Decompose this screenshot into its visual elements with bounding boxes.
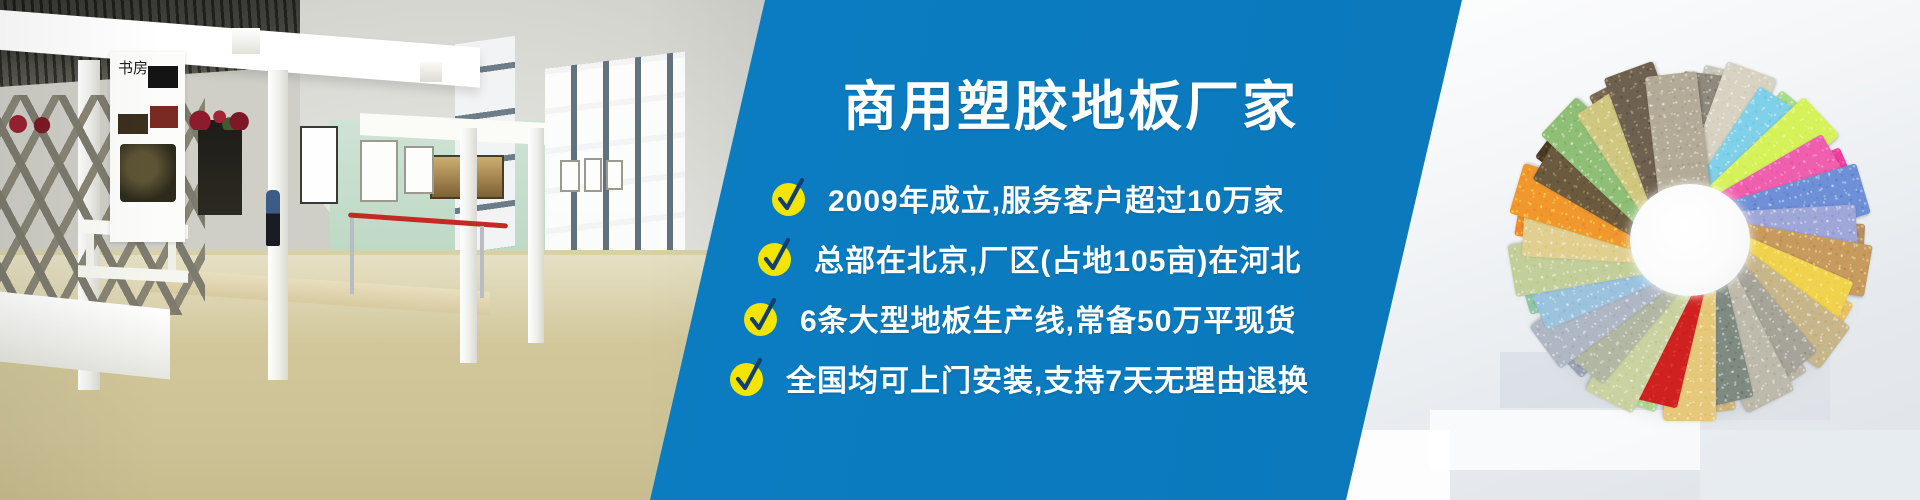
check-mark-icon — [759, 237, 793, 277]
page-title: 商用塑胶地板厂家 — [843, 62, 1299, 141]
check-circle-icon — [758, 241, 792, 275]
feature-item: 全国均可上门安装,支持7天无理由退换 — [730, 348, 1420, 408]
check-circle-icon — [730, 361, 764, 395]
feature-list: 2009年成立,服务客户超过10万家总部在北京,厂区(占地105亩)在河北6条大… — [720, 168, 1420, 408]
feature-text: 全国均可上门安装,支持7天无理由退换 — [786, 356, 1309, 400]
feature-item: 2009年成立,服务客户超过10万家 — [772, 168, 1420, 228]
feature-item: 6条大型地板生产线,常备50万平现货 — [744, 288, 1420, 348]
check-mark-icon — [731, 357, 765, 397]
wheel-hub — [1630, 184, 1750, 296]
check-mark-icon — [773, 177, 807, 217]
check-circle-icon — [772, 181, 806, 215]
feature-text: 总部在北京,厂区(占地105亩)在河北 — [814, 236, 1301, 280]
feature-item: 总部在北京,厂区(占地105亩)在河北 — [758, 228, 1420, 288]
check-mark-icon — [745, 297, 779, 337]
check-circle-icon — [744, 301, 778, 335]
feature-text: 2009年成立,服务客户超过10万家 — [828, 176, 1284, 220]
feature-text: 6条大型地板生产线,常备50万平现货 — [800, 296, 1296, 340]
promo-banner: 书房 商用塑胶地板厂家 2009年成立,服务客户超过10万家总部在北京,厂区(占… — [0, 0, 1920, 500]
